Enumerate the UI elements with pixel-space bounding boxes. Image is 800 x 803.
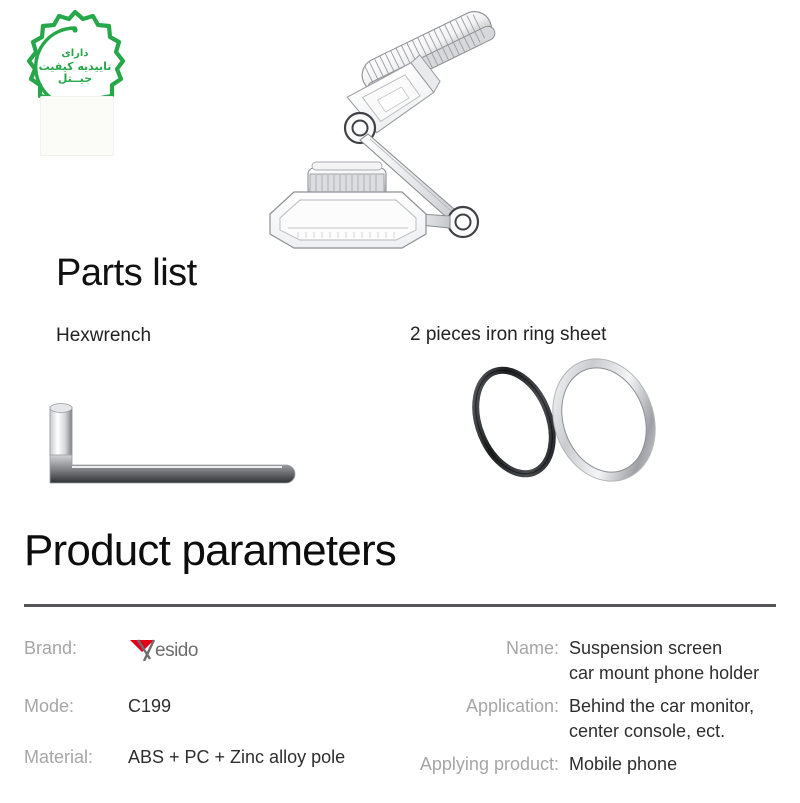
param-value-brand: esido [124, 636, 233, 668]
param-row-brand: Brand: esido [24, 636, 419, 668]
param-row-name: Name: Suspension screen car mount phone … [419, 636, 784, 686]
badge-paper-shadow [40, 96, 114, 156]
param-label-brand: Brand: [24, 636, 124, 661]
parameters-column-left: Brand: esido Mode: C199 Material: ABS + … [24, 636, 419, 803]
param-label-mode: Mode: [24, 694, 124, 719]
param-row-application: Application: Behind the car monitor, cen… [419, 694, 784, 744]
param-label-application: Application: [419, 694, 569, 719]
param-value-mode: C199 [124, 694, 171, 719]
part-label-iron-ring-sheet: 2 pieces iron ring sheet [410, 324, 606, 346]
param-label-applying-product: Applying product: [419, 752, 569, 777]
iron-ring-sheet-icon [452, 358, 668, 488]
param-value-application: Behind the car monitor, center console, … [569, 694, 754, 744]
product-parameters-table: Brand: esido Mode: C199 Material: ABS + … [24, 636, 784, 803]
parts-list-heading: Parts list [56, 252, 197, 295]
param-value-application-line2: center console, ect. [569, 719, 754, 744]
param-row-material: Material: ABS + PC + Zinc alloy pole [24, 745, 419, 770]
yesido-logo: esido [128, 636, 233, 661]
param-value-material: ABS + PC + Zinc alloy pole [124, 745, 345, 770]
param-value-applying-product: Mobile phone [569, 752, 677, 777]
param-value-application-line1: Behind the car monitor, [569, 694, 754, 719]
param-row-applying-product: Applying product: Mobile phone [419, 752, 784, 777]
param-value-name-line1: Suspension screen [569, 636, 759, 661]
param-label-material: Material: [24, 745, 124, 770]
hex-wrench-icon [42, 385, 296, 485]
product-parameters-heading: Product parameters [24, 526, 396, 576]
param-label-name: Name: [419, 636, 569, 661]
param-value-name: Suspension screen car mount phone holder [569, 636, 759, 686]
param-row-mode: Mode: C199 [24, 694, 419, 719]
product-illustration [250, 0, 540, 252]
svg-text:esido: esido [155, 640, 198, 661]
section-divider [24, 604, 776, 607]
part-label-hexwrench: Hexwrench [56, 325, 151, 347]
parameters-column-right: Name: Suspension screen car mount phone … [419, 636, 784, 803]
car-mount-line-art-icon [250, 0, 540, 252]
param-value-name-line2: car mount phone holder [569, 661, 759, 686]
param-value-applying-product-line1: Mobile phone [569, 752, 677, 777]
